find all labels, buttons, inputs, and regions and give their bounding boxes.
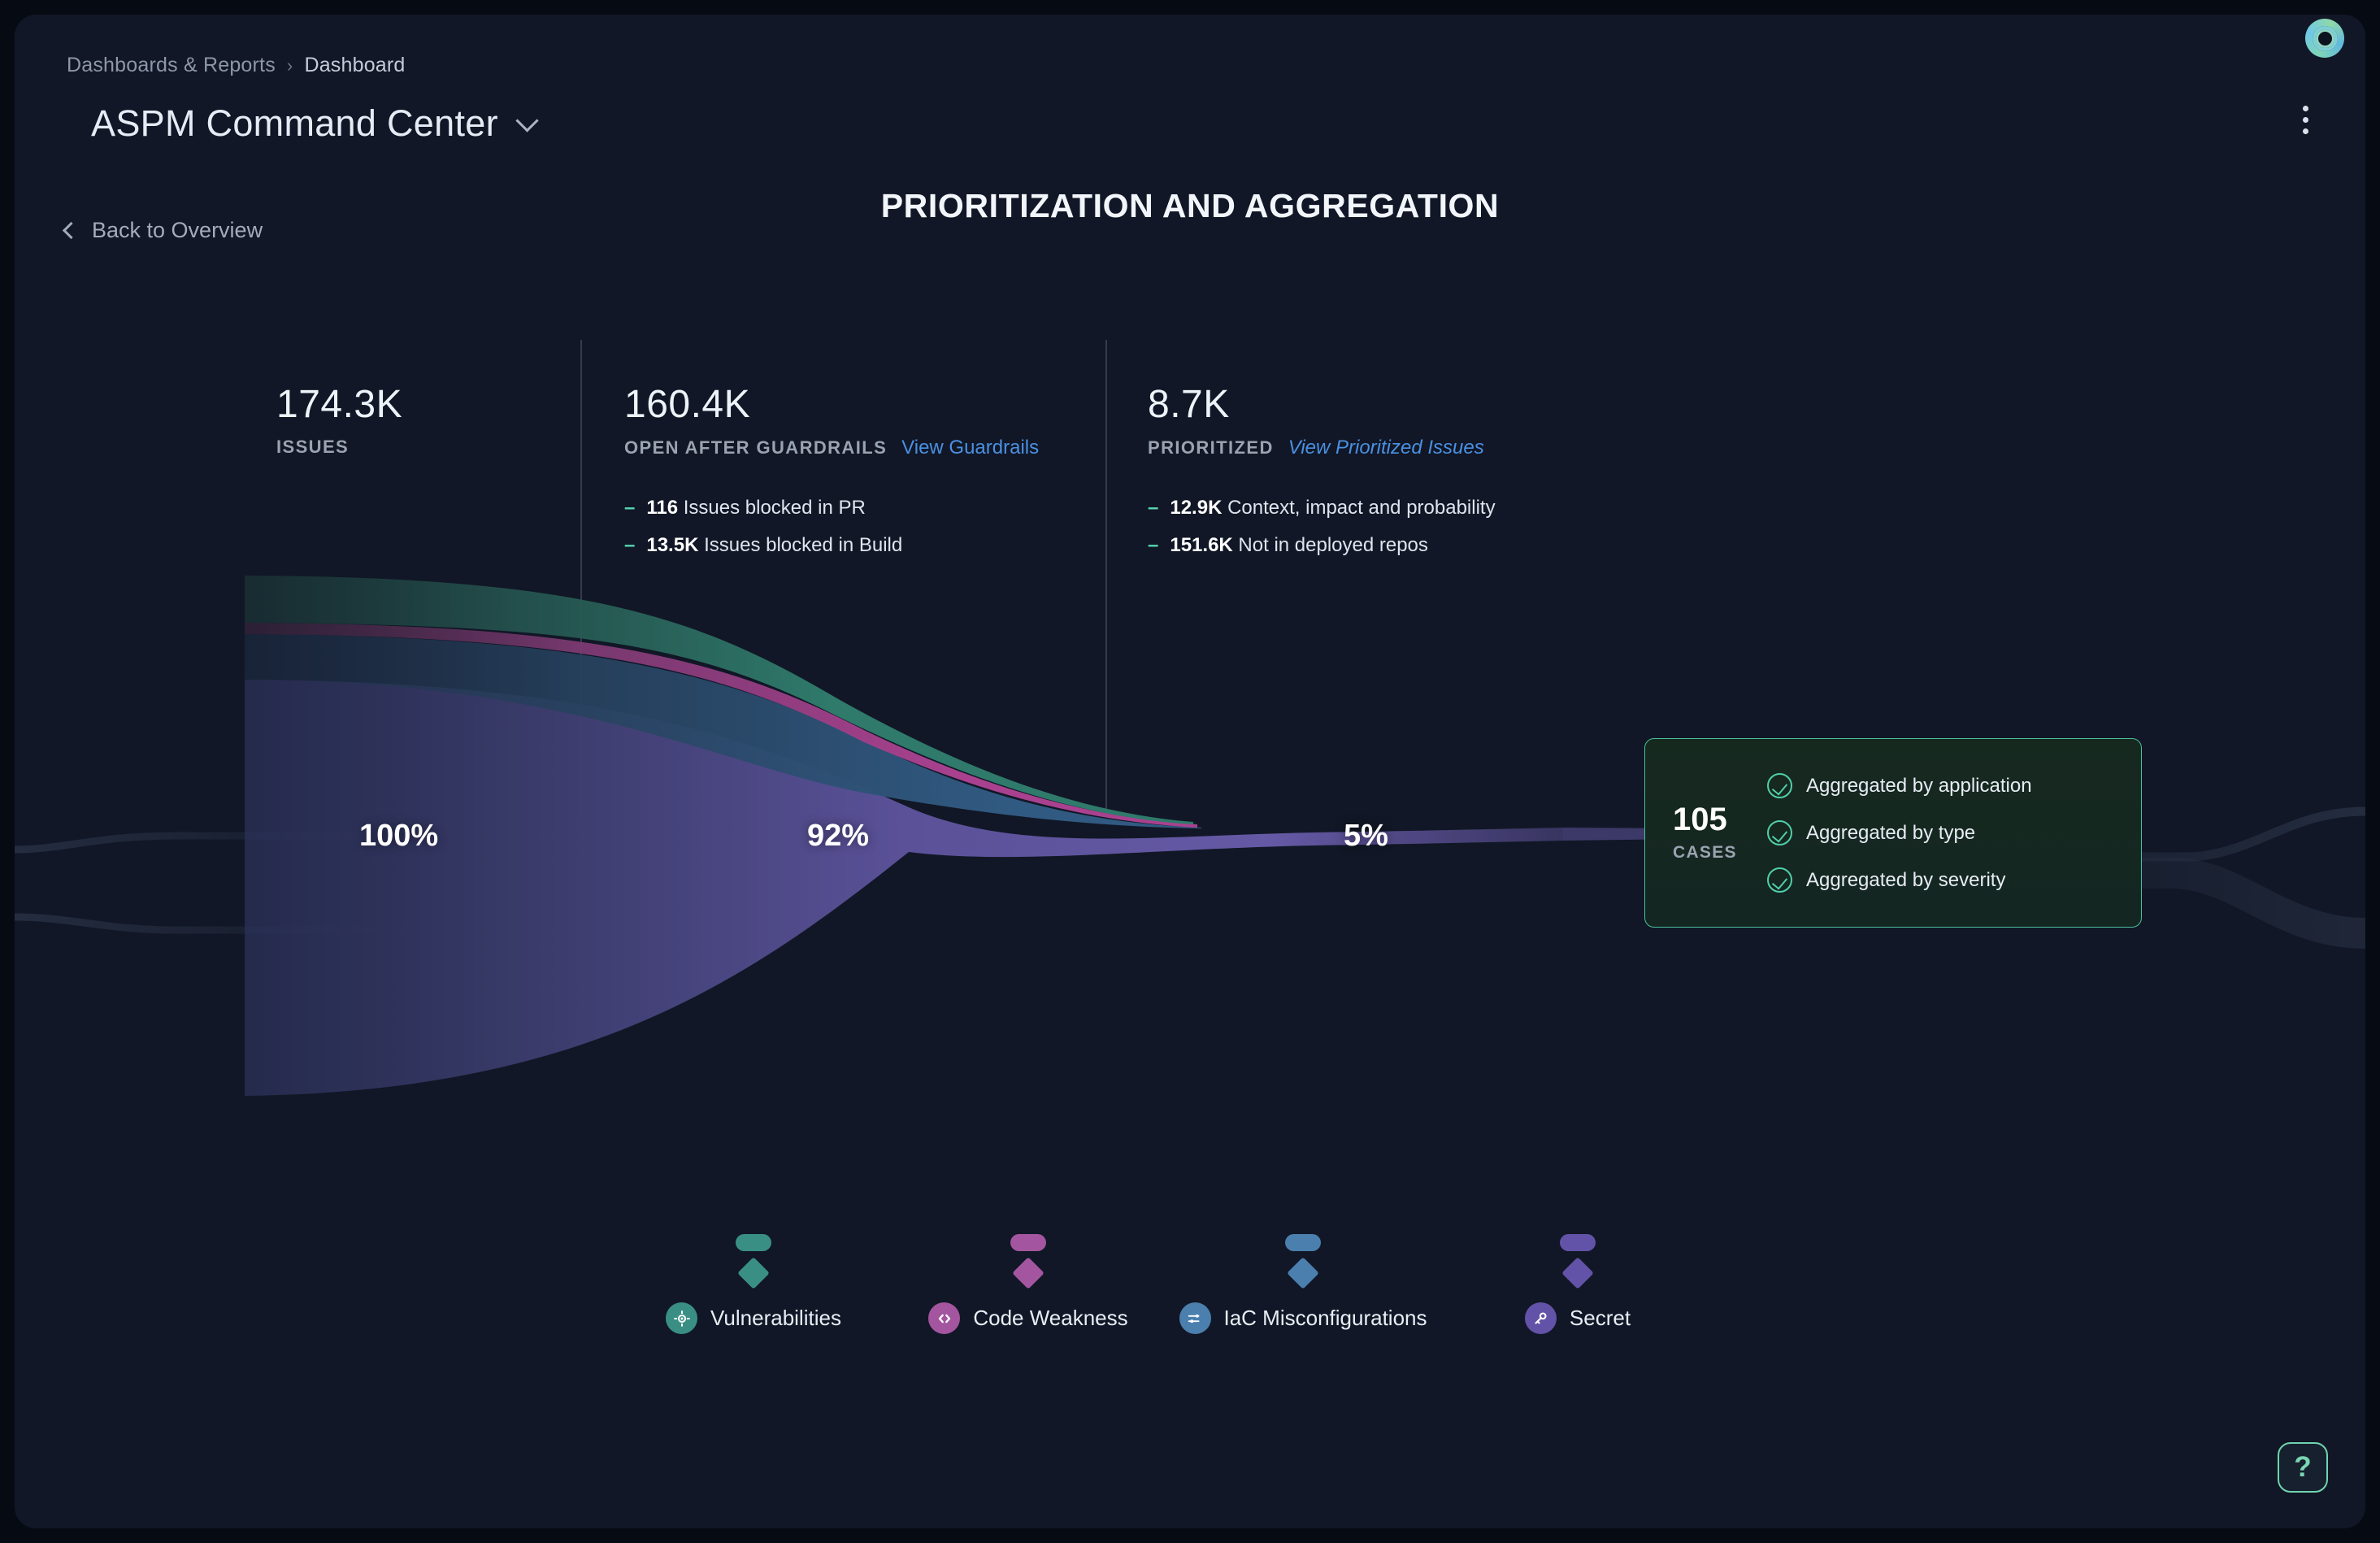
kpi-strip: 174.3K ISSUES 160.4K OPEN AFTER GUARDRAI… bbox=[15, 340, 2365, 795]
dashboard-app: Dashboards & Reports › Dashboard ASPM Co… bbox=[15, 15, 2365, 1528]
cases-caption: CASES bbox=[1673, 843, 1767, 863]
kebab-dot bbox=[2303, 117, 2308, 123]
kpi-bullet-list: – 116 Issues blocked in PR – 13.5K Issue… bbox=[624, 497, 1039, 557]
bullet-dash: – bbox=[1148, 497, 1158, 519]
breadcrumb-root[interactable]: Dashboards & Reports bbox=[67, 54, 276, 77]
kpi-value: 160.4K bbox=[624, 385, 1039, 425]
legend-label: IaC Misconfigurations bbox=[1224, 1306, 1427, 1331]
chart-legend: Vulnerabilities Code Weakness bbox=[616, 1234, 1715, 1334]
kpi-label: PRIORITIZED bbox=[1148, 437, 1274, 459]
target-icon bbox=[666, 1302, 697, 1334]
bullet-value: 12.9K bbox=[1170, 497, 1222, 519]
flow-percent-label: 92% bbox=[807, 819, 869, 854]
legend-item-code-weakness[interactable]: Code Weakness bbox=[891, 1234, 1166, 1334]
list-item: – 12.9K Context, impact and probability bbox=[1148, 497, 1496, 519]
legend-label: Secret bbox=[1570, 1306, 1631, 1331]
sliders-icon bbox=[1179, 1302, 1211, 1334]
cases-summary-card: 105 CASES Aggregated by application Aggr… bbox=[1644, 738, 2142, 928]
list-item: – 116 Issues blocked in PR bbox=[624, 497, 1039, 519]
legend-diamond-swatch bbox=[737, 1257, 770, 1289]
kpi-bullet-list: – 12.9K Context, impact and probability … bbox=[1148, 497, 1496, 557]
kpi-label: ISSUES bbox=[276, 437, 349, 458]
legend-pill-swatch bbox=[1285, 1234, 1321, 1251]
list-item: Aggregated by type bbox=[1767, 820, 2032, 845]
kpi-label: OPEN AFTER GUARDRAILS bbox=[624, 437, 887, 459]
column-divider bbox=[580, 340, 582, 811]
legend-pill-swatch bbox=[1010, 1234, 1046, 1251]
breadcrumb-separator-icon: › bbox=[287, 55, 293, 76]
column-divider bbox=[1105, 340, 1107, 811]
list-item: – 151.6K Not in deployed repos bbox=[1148, 534, 1496, 557]
check-circle-icon bbox=[1767, 773, 1792, 798]
key-icon bbox=[1525, 1302, 1557, 1334]
legend-item-secret[interactable]: Secret bbox=[1440, 1234, 1715, 1334]
legend-item-vulnerabilities[interactable]: Vulnerabilities bbox=[616, 1234, 891, 1334]
flow-percent-label: 100% bbox=[359, 819, 438, 854]
page-title: ASPM Command Center bbox=[91, 102, 498, 145]
list-item: – 13.5K Issues blocked in Build bbox=[624, 534, 1039, 557]
check-circle-icon bbox=[1767, 820, 1792, 845]
bullet-value: 13.5K bbox=[646, 534, 698, 556]
legend-label: Vulnerabilities bbox=[710, 1306, 841, 1331]
chevron-down-icon[interactable] bbox=[515, 109, 538, 132]
more-vertical-icon[interactable] bbox=[2298, 101, 2313, 139]
breadcrumb-current[interactable]: Dashboard bbox=[304, 54, 405, 77]
bullet-dash: – bbox=[1148, 534, 1158, 557]
cases-item-label: Aggregated by application bbox=[1806, 775, 2032, 798]
code-brackets-icon bbox=[928, 1302, 960, 1334]
kebab-dot bbox=[2303, 106, 2308, 111]
view-guardrails-link[interactable]: View Guardrails bbox=[901, 437, 1039, 459]
legend-diamond-swatch bbox=[1287, 1257, 1319, 1289]
flow-percent-label: 5% bbox=[1344, 819, 1388, 854]
dashboard-selector[interactable]: ASPM Command Center bbox=[91, 102, 532, 145]
legend-pill-swatch bbox=[736, 1234, 771, 1251]
kpi-value: 8.7K bbox=[1148, 385, 1496, 425]
bullet-value: 151.6K bbox=[1170, 534, 1232, 556]
legend-label: Code Weakness bbox=[973, 1306, 1127, 1331]
kpi-column-prioritized: 8.7K PRIORITIZED View Prioritized Issues… bbox=[1148, 385, 1496, 557]
legend-item-iac-misconfigurations[interactable]: IaC Misconfigurations bbox=[1166, 1234, 1440, 1334]
breadcrumb: Dashboards & Reports › Dashboard bbox=[67, 54, 406, 77]
help-button[interactable]: ? bbox=[2278, 1442, 2328, 1493]
bullet-dash: – bbox=[624, 497, 635, 519]
section-heading: PRIORITIZATION AND AGGREGATION bbox=[15, 187, 2365, 225]
legend-diamond-swatch bbox=[1561, 1257, 1594, 1289]
bullet-text: Not in deployed repos bbox=[1238, 534, 1427, 556]
view-prioritized-issues-link[interactable]: View Prioritized Issues bbox=[1288, 437, 1484, 459]
kebab-dot bbox=[2303, 128, 2308, 134]
list-item: Aggregated by severity bbox=[1767, 867, 2032, 893]
check-circle-icon bbox=[1767, 867, 1792, 893]
kpi-column-issues: 174.3K ISSUES bbox=[276, 385, 402, 458]
kpi-column-open-after-guardrails: 160.4K OPEN AFTER GUARDRAILS View Guardr… bbox=[624, 385, 1039, 557]
brand-rings-icon bbox=[2305, 19, 2344, 58]
legend-diamond-swatch bbox=[1012, 1257, 1045, 1289]
cases-item-label: Aggregated by severity bbox=[1806, 869, 2005, 892]
bullet-text: Issues blocked in PR bbox=[684, 497, 866, 519]
list-item: Aggregated by application bbox=[1767, 773, 2032, 798]
cases-count: 105 bbox=[1673, 803, 1767, 836]
legend-pill-swatch bbox=[1560, 1234, 1596, 1251]
kpi-value: 174.3K bbox=[276, 385, 402, 425]
bullet-text: Issues blocked in Build bbox=[704, 534, 902, 556]
bullet-value: 116 bbox=[646, 497, 678, 519]
cases-item-label: Aggregated by type bbox=[1806, 822, 1975, 845]
bullet-dash: – bbox=[624, 534, 635, 557]
bullet-text: Context, impact and probability bbox=[1227, 497, 1496, 519]
question-mark-icon: ? bbox=[2294, 1451, 2311, 1484]
